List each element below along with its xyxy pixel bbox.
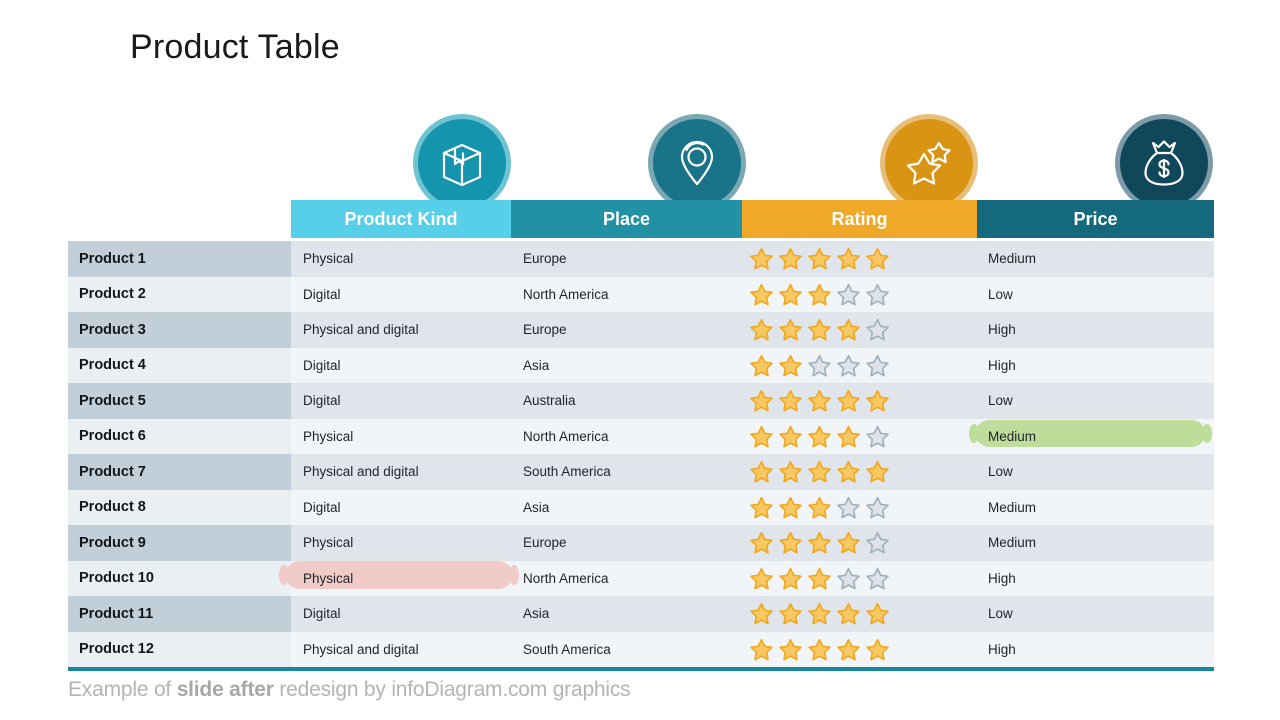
star-filled-icon bbox=[807, 495, 832, 520]
cell-rating bbox=[742, 596, 977, 632]
star-filled-icon bbox=[865, 388, 890, 413]
cell-product-name: Product 3 bbox=[68, 312, 291, 348]
footer-suffix: redesign by infoDiagram.com graphics bbox=[274, 678, 631, 701]
star-empty-icon bbox=[836, 566, 861, 591]
footer-prefix: Example of bbox=[68, 678, 177, 701]
star-filled-icon bbox=[807, 566, 832, 591]
rating-stars[interactable] bbox=[749, 566, 890, 591]
star-filled-icon bbox=[836, 388, 861, 413]
cell-price: High bbox=[977, 632, 1214, 668]
star-filled-icon bbox=[778, 424, 803, 449]
star-filled-icon bbox=[778, 317, 803, 342]
cell-product-kind: Digital bbox=[291, 596, 511, 632]
product-table: Product Kind Place Rating Price Product … bbox=[68, 200, 1214, 671]
star-empty-icon bbox=[865, 317, 890, 342]
cell-place: Asia bbox=[511, 348, 742, 384]
star-filled-icon bbox=[836, 317, 861, 342]
cell-place: North America bbox=[511, 277, 742, 313]
star-empty-icon bbox=[836, 353, 861, 378]
star-filled-icon bbox=[836, 246, 861, 271]
rating-stars[interactable] bbox=[749, 317, 890, 342]
star-filled-icon bbox=[778, 246, 803, 271]
cell-place: South America bbox=[511, 632, 742, 668]
star-empty-icon bbox=[836, 495, 861, 520]
cell-rating bbox=[742, 454, 977, 490]
cell-rating bbox=[742, 419, 977, 455]
star-filled-icon bbox=[865, 459, 890, 484]
star-filled-icon bbox=[836, 530, 861, 555]
star-filled-icon bbox=[749, 601, 774, 626]
cell-rating bbox=[742, 348, 977, 384]
footer-note: Example of slide after redesign by infoD… bbox=[68, 678, 630, 702]
star-filled-icon bbox=[778, 530, 803, 555]
cell-price: Low bbox=[977, 454, 1214, 490]
cell-product-name: Product 1 bbox=[68, 241, 291, 277]
cell-price: High bbox=[977, 348, 1214, 384]
cell-place: Europe bbox=[511, 241, 742, 277]
star-empty-icon bbox=[865, 282, 890, 307]
cell-price: High bbox=[977, 561, 1214, 597]
star-filled-icon bbox=[807, 637, 832, 662]
cell-place: Asia bbox=[511, 596, 742, 632]
cell-place: North America bbox=[511, 419, 742, 455]
cell-price: Medium bbox=[977, 419, 1214, 455]
footer-bold: slide after bbox=[177, 678, 274, 701]
star-empty-icon bbox=[865, 353, 890, 378]
cell-product-kind: Digital bbox=[291, 277, 511, 313]
column-header-product-kind[interactable]: Product Kind bbox=[291, 200, 511, 238]
star-filled-icon bbox=[807, 530, 832, 555]
cell-rating bbox=[742, 277, 977, 313]
star-filled-icon bbox=[807, 282, 832, 307]
star-filled-icon bbox=[749, 637, 774, 662]
table-row[interactable]: Product 5DigitalAustraliaLow bbox=[68, 383, 1214, 419]
cell-product-name: Product 11 bbox=[68, 596, 291, 632]
table-row[interactable]: Product 2DigitalNorth AmericaLow bbox=[68, 277, 1214, 313]
cell-product-name: Product 8 bbox=[68, 490, 291, 526]
cell-product-name: Product 4 bbox=[68, 348, 291, 384]
rating-stars[interactable] bbox=[749, 388, 890, 413]
star-filled-icon bbox=[865, 637, 890, 662]
cell-place: North America bbox=[511, 561, 742, 597]
rating-stars[interactable] bbox=[749, 495, 890, 520]
star-filled-icon bbox=[778, 566, 803, 591]
cell-price: High bbox=[977, 312, 1214, 348]
star-filled-icon bbox=[749, 459, 774, 484]
cell-product-kind: Digital bbox=[291, 490, 511, 526]
cell-price: Medium bbox=[977, 525, 1214, 561]
star-filled-icon bbox=[778, 495, 803, 520]
star-filled-icon bbox=[807, 317, 832, 342]
table-row[interactable]: Product 4DigitalAsiaHigh bbox=[68, 348, 1214, 384]
cell-product-name: Product 12 bbox=[68, 632, 291, 668]
table-row[interactable]: Product 6PhysicalNorth AmericaMedium bbox=[68, 419, 1214, 455]
star-filled-icon bbox=[807, 388, 832, 413]
star-filled-icon bbox=[749, 353, 774, 378]
star-empty-icon bbox=[865, 495, 890, 520]
cell-rating bbox=[742, 241, 977, 277]
star-filled-icon bbox=[778, 353, 803, 378]
rating-stars[interactable] bbox=[749, 246, 890, 271]
table-body: Product 1PhysicalEuropeMediumProduct 2Di… bbox=[68, 241, 1214, 667]
rating-stars[interactable] bbox=[749, 424, 890, 449]
star-filled-icon bbox=[807, 459, 832, 484]
star-filled-icon bbox=[749, 424, 774, 449]
cell-rating bbox=[742, 490, 977, 526]
cell-product-name: Product 5 bbox=[68, 383, 291, 419]
star-empty-icon bbox=[865, 566, 890, 591]
rating-stars[interactable] bbox=[749, 530, 890, 555]
star-empty-icon bbox=[807, 353, 832, 378]
star-filled-icon bbox=[778, 459, 803, 484]
cell-rating bbox=[742, 383, 977, 419]
table-row[interactable]: Product 11DigitalAsiaLow bbox=[68, 596, 1214, 632]
star-filled-icon bbox=[865, 246, 890, 271]
cell-place: Europe bbox=[511, 525, 742, 561]
column-header-place[interactable]: Place bbox=[511, 200, 742, 238]
cell-place: Australia bbox=[511, 383, 742, 419]
table-row[interactable]: Product 10PhysicalNorth AmericaHigh bbox=[68, 561, 1214, 597]
cell-product-name: Product 6 bbox=[68, 419, 291, 455]
cell-product-kind: Digital bbox=[291, 348, 511, 384]
stars-icon bbox=[880, 114, 978, 212]
cell-product-name: Product 9 bbox=[68, 525, 291, 561]
cell-price: Low bbox=[977, 277, 1214, 313]
star-empty-icon bbox=[865, 424, 890, 449]
star-filled-icon bbox=[807, 601, 832, 626]
column-header-price[interactable]: Price bbox=[977, 200, 1214, 238]
star-filled-icon bbox=[749, 566, 774, 591]
cell-price: Medium bbox=[977, 241, 1214, 277]
star-filled-icon bbox=[778, 601, 803, 626]
table-row[interactable]: Product 3Physical and digitalEuropeHigh bbox=[68, 312, 1214, 348]
column-header-rating[interactable]: Rating bbox=[742, 200, 977, 238]
star-filled-icon bbox=[749, 317, 774, 342]
table-row[interactable]: Product 8DigitalAsiaMedium bbox=[68, 490, 1214, 526]
rating-stars[interactable] bbox=[749, 353, 890, 378]
star-filled-icon bbox=[749, 282, 774, 307]
star-filled-icon bbox=[749, 495, 774, 520]
cell-price: Low bbox=[977, 596, 1214, 632]
cell-product-name: Product 10 bbox=[68, 561, 291, 597]
rating-stars[interactable] bbox=[749, 282, 890, 307]
star-filled-icon bbox=[807, 246, 832, 271]
cell-product-name: Product 7 bbox=[68, 454, 291, 490]
cell-rating bbox=[742, 312, 977, 348]
rating-stars[interactable] bbox=[749, 601, 890, 626]
cell-product-name: Product 2 bbox=[68, 277, 291, 313]
table-header-row: Product Kind Place Rating Price bbox=[291, 200, 1214, 238]
star-filled-icon bbox=[749, 246, 774, 271]
cell-place: Europe bbox=[511, 312, 742, 348]
cell-rating bbox=[742, 561, 977, 597]
star-filled-icon bbox=[865, 601, 890, 626]
star-filled-icon bbox=[778, 282, 803, 307]
star-filled-icon bbox=[778, 388, 803, 413]
star-filled-icon bbox=[836, 601, 861, 626]
star-filled-icon bbox=[836, 459, 861, 484]
cell-product-kind: Physical and digital bbox=[291, 632, 511, 668]
cell-rating bbox=[742, 525, 977, 561]
cell-place: South America bbox=[511, 454, 742, 490]
cell-product-kind: Physical bbox=[291, 419, 511, 455]
table-bottom-rule bbox=[68, 667, 1214, 671]
cell-product-kind: Physical and digital bbox=[291, 312, 511, 348]
star-filled-icon bbox=[807, 424, 832, 449]
table-row[interactable]: Product 12Physical and digitalSouth Amer… bbox=[68, 632, 1214, 668]
star-empty-icon bbox=[836, 282, 861, 307]
cell-product-kind: Digital bbox=[291, 383, 511, 419]
rating-stars[interactable] bbox=[749, 637, 890, 662]
star-empty-icon bbox=[865, 530, 890, 555]
cell-price: Medium bbox=[977, 490, 1214, 526]
star-filled-icon bbox=[836, 424, 861, 449]
cell-product-kind: Physical bbox=[291, 241, 511, 277]
table-row[interactable]: Product 9PhysicalEuropeMedium bbox=[68, 525, 1214, 561]
money-bag-icon bbox=[1115, 114, 1213, 212]
star-filled-icon bbox=[749, 530, 774, 555]
rating-stars[interactable] bbox=[749, 459, 890, 484]
star-filled-icon bbox=[749, 388, 774, 413]
cell-price: Low bbox=[977, 383, 1214, 419]
cell-rating bbox=[742, 632, 977, 668]
cell-product-kind: Physical bbox=[291, 525, 511, 561]
cell-place: Asia bbox=[511, 490, 742, 526]
star-filled-icon bbox=[778, 637, 803, 662]
table-row[interactable]: Product 1PhysicalEuropeMedium bbox=[68, 241, 1214, 277]
location-pin-icon bbox=[648, 114, 746, 212]
star-filled-icon bbox=[836, 637, 861, 662]
table-row[interactable]: Product 7Physical and digitalSouth Ameri… bbox=[68, 454, 1214, 490]
page-title: Product Table bbox=[130, 28, 340, 67]
cell-product-kind: Physical and digital bbox=[291, 454, 511, 490]
cell-product-kind: Physical bbox=[291, 561, 511, 597]
box-icon bbox=[413, 114, 511, 212]
